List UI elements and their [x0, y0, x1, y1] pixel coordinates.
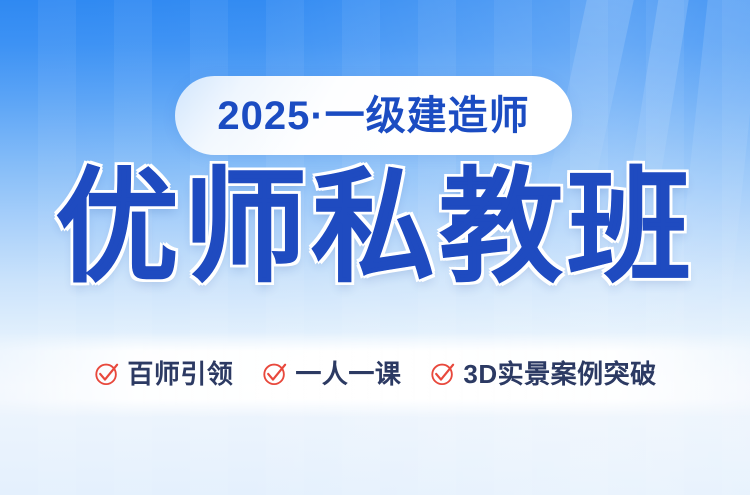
- badge-label: 2025·一级建造师: [217, 96, 529, 136]
- feature-item: 百师引领: [93, 360, 233, 387]
- feature-label: 百师引领: [127, 361, 233, 387]
- feature-label: 一人一课: [295, 361, 401, 387]
- headline-title: 优师私教班: [0, 166, 750, 290]
- circle-check-icon: [261, 360, 288, 387]
- feature-list: 百师引领 一人一课 3D实景案例突破: [0, 360, 750, 387]
- year-course-badge: 2025·一级建造师: [175, 76, 572, 155]
- feature-label: 3D实景案例突破: [463, 361, 656, 387]
- promo-banner: 2025·一级建造师 优师私教班 百师引领 一人一课 3D实景案例突破: [0, 0, 750, 495]
- circle-check-icon: [429, 360, 456, 387]
- circle-check-icon: [93, 360, 120, 387]
- feature-item: 3D实景案例突破: [429, 360, 656, 387]
- feature-item: 一人一课: [261, 360, 401, 387]
